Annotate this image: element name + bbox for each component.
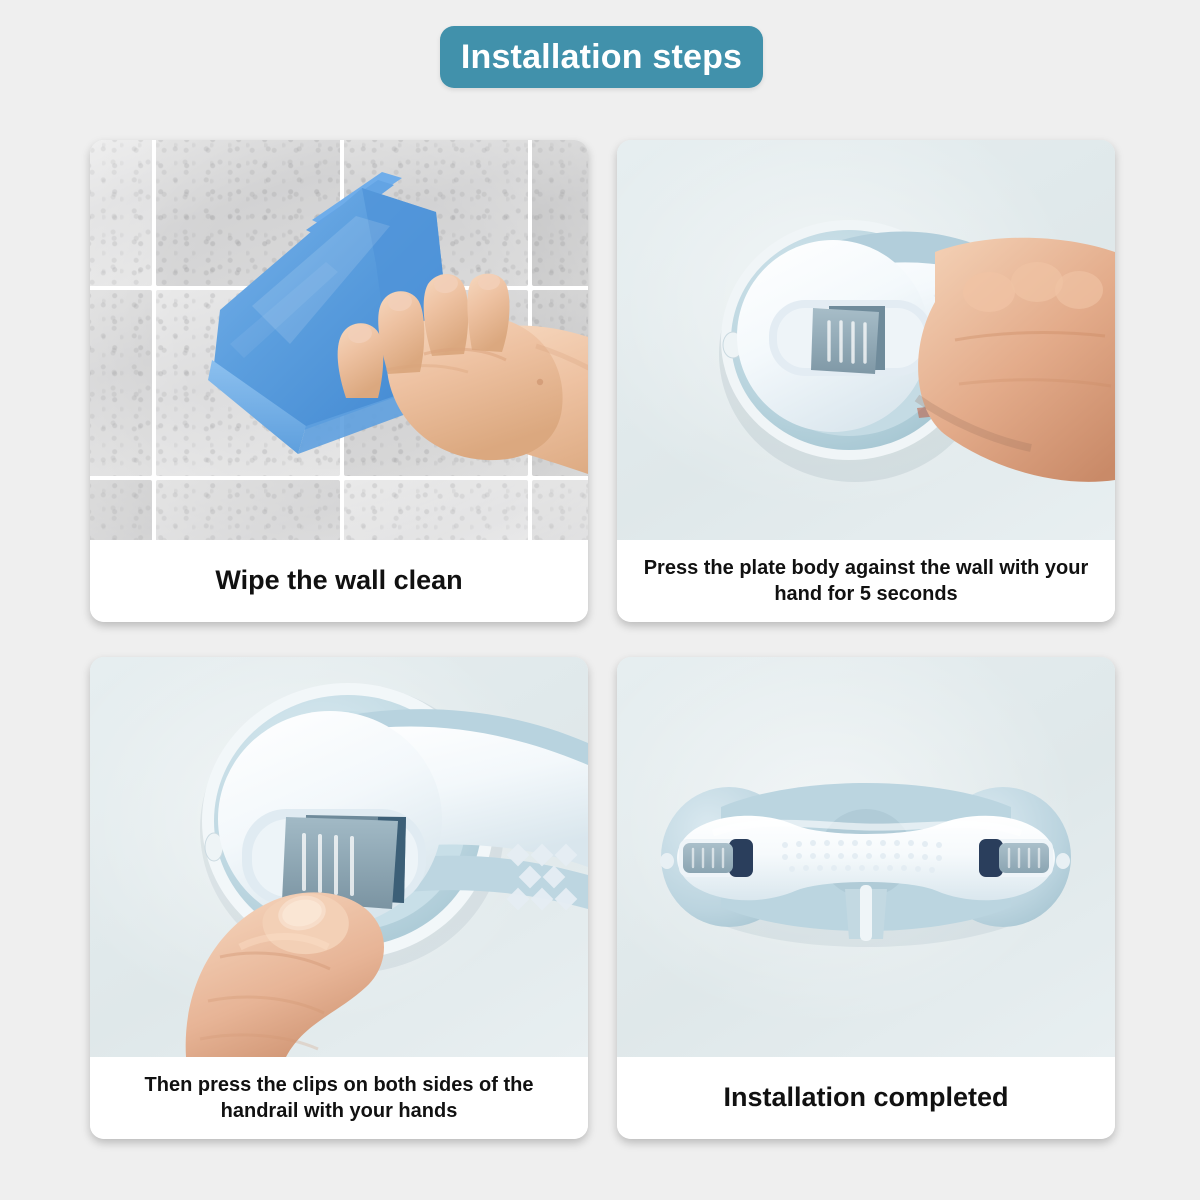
step-1-caption: Wipe the wall clean <box>90 540 588 622</box>
step-1-caption-text: Wipe the wall clean <box>215 563 462 598</box>
step-4-photo <box>617 657 1115 1057</box>
suction-plate-and-hand <box>617 140 1115 540</box>
steps-grid: Wipe the wall clean <box>90 140 1115 1160</box>
step-3-caption-text: Then press the clips on both sides of th… <box>104 1072 574 1124</box>
step-3-caption: Then press the clips on both sides of th… <box>90 1057 588 1139</box>
step-4-caption: Installation completed <box>617 1057 1115 1139</box>
hand-wiping <box>330 250 588 540</box>
step-card-3: Then press the clips on both sides of th… <box>90 657 588 1139</box>
page-title: Installation steps <box>461 40 742 74</box>
step-1-photo <box>90 140 588 540</box>
infographic-root: Installation steps <box>0 0 1200 1200</box>
installed-grab-bar <box>617 657 1115 1057</box>
handrail-clip-and-fingers <box>90 657 588 1057</box>
step-3-photo <box>90 657 588 1057</box>
step-card-1: Wipe the wall clean <box>90 140 588 622</box>
step-card-4: Installation completed <box>617 657 1115 1139</box>
step-4-caption-text: Installation completed <box>723 1080 1008 1115</box>
step-card-2: Press the plate body against the wall wi… <box>617 140 1115 622</box>
step-2-caption: Press the plate body against the wall wi… <box>617 540 1115 622</box>
step-2-caption-text: Press the plate body against the wall wi… <box>631 555 1101 607</box>
page-title-badge: Installation steps <box>440 26 763 88</box>
step-2-photo <box>617 140 1115 540</box>
